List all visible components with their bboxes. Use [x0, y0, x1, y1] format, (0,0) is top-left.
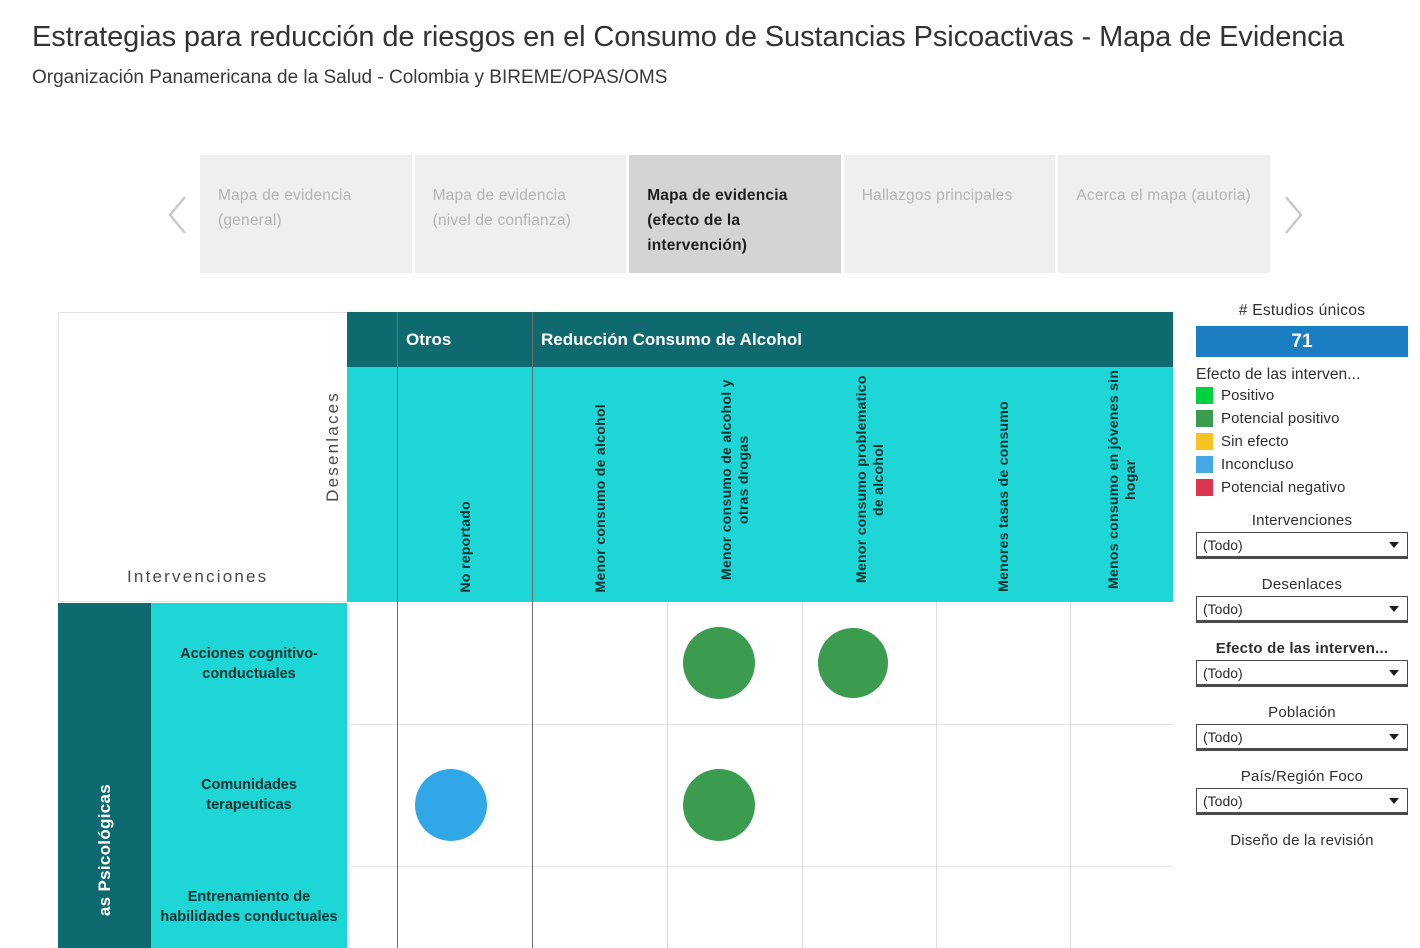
column-group-otros: Otros — [397, 312, 532, 367]
axis-label-desenlaces: Desenlaces — [323, 391, 343, 502]
filter-intervenciones: Intervenciones (Todo) — [1196, 512, 1408, 559]
chevron-down-icon — [1389, 798, 1399, 804]
filter-select-intervenciones[interactable]: (Todo) — [1196, 532, 1408, 557]
matrix-plot-area — [347, 603, 1173, 948]
tab-list: Mapa de evidencia (general) Mapa de evid… — [200, 155, 1270, 273]
grid-vrule — [397, 312, 398, 948]
filter-efecto-intervenciones: Efecto de las interven... (Todo) — [1196, 640, 1408, 687]
legend-swatch-icon — [1196, 387, 1213, 404]
tab-mapa-general[interactable]: Mapa de evidencia (general) — [200, 155, 412, 273]
chevron-down-icon — [1389, 734, 1399, 740]
filter-poblacion: Población (Todo) — [1196, 704, 1408, 751]
column-header-label: No reportado — [457, 501, 474, 593]
row-label-column: Acciones cognitivo-conductuales Comunida… — [151, 603, 347, 948]
legend-swatch-icon — [1196, 433, 1213, 450]
column-header-label: Menor consumo problematico de alcohol — [853, 367, 887, 592]
grid-hrule — [347, 866, 1173, 867]
grid-vrule-light — [936, 602, 937, 948]
filter-label: Diseño de la revisión — [1196, 832, 1408, 849]
filter-label: País/Región Foco — [1196, 768, 1408, 785]
filter-value: (Todo) — [1203, 537, 1243, 553]
filter-select-poblacion[interactable]: (Todo) — [1196, 724, 1408, 749]
column-group-reduccion-consumo-alcohol: Reducción Consumo de Alcohol — [532, 312, 1173, 367]
filter-value: (Todo) — [1203, 601, 1243, 617]
bubble-potencial-positivo[interactable] — [818, 628, 888, 698]
legend-item-sin-efecto[interactable]: Sin efecto — [1196, 430, 1408, 453]
legend-item-label: Inconcluso — [1221, 456, 1294, 473]
filter-underline — [1196, 621, 1408, 623]
filter-label: Intervenciones — [1196, 512, 1408, 529]
legend-item-label: Positivo — [1221, 387, 1274, 404]
tab-mapa-nivel-confianza[interactable]: Mapa de evidencia (nivel de confianza) — [415, 155, 627, 273]
evidence-matrix: Desenlaces Intervenciones Otros Reducció… — [58, 312, 1173, 948]
legend-item-inconcluso[interactable]: Inconcluso — [1196, 453, 1408, 476]
legend-item-potencial-negativo[interactable]: Potencial negativo — [1196, 476, 1408, 499]
row-group-intervenciones-psicologicas: as Psicológicas — [58, 603, 151, 948]
grid-vrule-light — [1070, 602, 1071, 948]
legend-item-positivo[interactable]: Positivo — [1196, 384, 1408, 407]
bubble-potencial-positivo[interactable] — [683, 627, 755, 699]
legend-swatch-icon — [1196, 479, 1213, 496]
row-group-label: as Psicológicas — [95, 784, 115, 916]
chevron-left-icon[interactable] — [155, 155, 200, 275]
legend-item-label: Sin efecto — [1221, 433, 1289, 450]
column-header-no-reportado[interactable]: No reportado — [397, 367, 532, 602]
grid-vrule-light — [802, 602, 803, 948]
filter-underline — [1196, 749, 1408, 751]
legend-swatch-icon — [1196, 410, 1213, 427]
bubble-inconcluso[interactable] — [415, 769, 487, 841]
column-header-band: No reportado Menor consumo de alcohol Me… — [347, 367, 1173, 602]
side-panel: # Estudios únicos 71 Efecto de las inter… — [1196, 302, 1408, 948]
kpi-estudios-unicos-badge: 71 — [1196, 326, 1408, 357]
filter-pais-region-foco: País/Región Foco (Todo) — [1196, 768, 1408, 815]
matrix-corner: Desenlaces Intervenciones — [58, 312, 347, 602]
filter-diseno-revision: Diseño de la revisión — [1196, 832, 1408, 849]
page-header: Estrategias para reducción de riesgos en… — [0, 0, 1420, 91]
legend-item-label: Potencial negativo — [1221, 479, 1345, 496]
grid-vrule-light — [667, 602, 668, 948]
filter-select-efecto-intervenciones[interactable]: (Todo) — [1196, 660, 1408, 685]
column-group-header: Otros Reducción Consumo de Alcohol — [347, 312, 1173, 367]
filter-underline — [1196, 557, 1408, 559]
filter-select-desenlaces[interactable]: (Todo) — [1196, 596, 1408, 621]
legend-item-potencial-positivo[interactable]: Potencial positivo — [1196, 407, 1408, 430]
filter-value: (Todo) — [1203, 793, 1243, 809]
legend-swatch-icon — [1196, 456, 1213, 473]
axis-label-intervenciones: Intervenciones — [127, 567, 268, 587]
filter-underline — [1196, 685, 1408, 687]
row-label-acciones-cognitivo-conductuales[interactable]: Acciones cognitivo-conductuales — [151, 603, 347, 724]
kpi-title: # Estudios únicos — [1196, 302, 1408, 320]
column-header-menos-consumo-jovenes-sin-hogar[interactable]: Menos consumo en jóvenes sin hogar — [1070, 367, 1173, 602]
filter-select-pais-region-foco[interactable]: (Todo) — [1196, 788, 1408, 813]
filter-label: Desenlaces — [1196, 576, 1408, 593]
column-header-menores-tasas-consumo[interactable]: Menores tasas de consumo — [936, 367, 1070, 602]
legend-title: Efecto de las interven... — [1196, 366, 1408, 384]
column-header-menor-consumo-alcohol-otras-drogas[interactable]: Menor consumo de alcohol y otras drogas — [667, 367, 802, 602]
tab-mapa-efecto-intervencion[interactable]: Mapa de evidencia (efecto de la interven… — [629, 155, 841, 273]
legend-item-label: Potencial positivo — [1221, 410, 1340, 427]
column-header-label: Menor consumo de alcohol y otras drogas — [718, 367, 752, 592]
column-header-menor-consumo-problematico-alcohol[interactable]: Menor consumo problematico de alcohol — [802, 367, 936, 602]
tab-strip: Mapa de evidencia (general) Mapa de evid… — [155, 155, 1315, 275]
column-header-label: Menor consumo de alcohol — [592, 404, 609, 592]
tab-hallazgos-principales[interactable]: Hallazgos principales — [844, 155, 1056, 273]
row-label-comunidades-terapeuticas[interactable]: Comunidades terapeuticas — [151, 724, 347, 866]
column-header-blank — [347, 367, 397, 602]
bubble-potencial-positivo[interactable] — [683, 769, 755, 841]
filter-label: Población — [1196, 704, 1408, 721]
grid-vrule — [532, 312, 533, 948]
chevron-down-icon — [1389, 606, 1399, 612]
filter-underline — [1196, 813, 1408, 815]
filter-label: Efecto de las interven... — [1196, 640, 1408, 657]
tab-acerca-el-mapa[interactable]: Acerca el mapa (autoria) — [1058, 155, 1270, 273]
page-title: Estrategias para reducción de riesgos en… — [32, 14, 1372, 61]
chevron-right-icon[interactable] — [1270, 155, 1315, 275]
filter-value: (Todo) — [1203, 665, 1243, 681]
chevron-down-icon — [1389, 670, 1399, 676]
filter-desenlaces: Desenlaces (Todo) — [1196, 576, 1408, 623]
row-label-entrenamiento-habilidades-conductuales[interactable]: Entrenamiento de habilidades conductuale… — [151, 866, 347, 948]
column-header-label: Menores tasas de consumo — [995, 401, 1012, 592]
page-subtitle: Organización Panamericana de la Salud - … — [32, 65, 1420, 91]
grid-hrule — [347, 724, 1173, 725]
column-header-menor-consumo-alcohol[interactable]: Menor consumo de alcohol — [532, 367, 667, 602]
legend-list: Positivo Potencial positivo Sin efecto I… — [1196, 384, 1408, 499]
chevron-down-icon — [1389, 542, 1399, 548]
column-group-spacer — [347, 312, 397, 367]
column-header-label: Menos consumo en jóvenes sin hogar — [1105, 367, 1139, 592]
filter-value: (Todo) — [1203, 729, 1243, 745]
